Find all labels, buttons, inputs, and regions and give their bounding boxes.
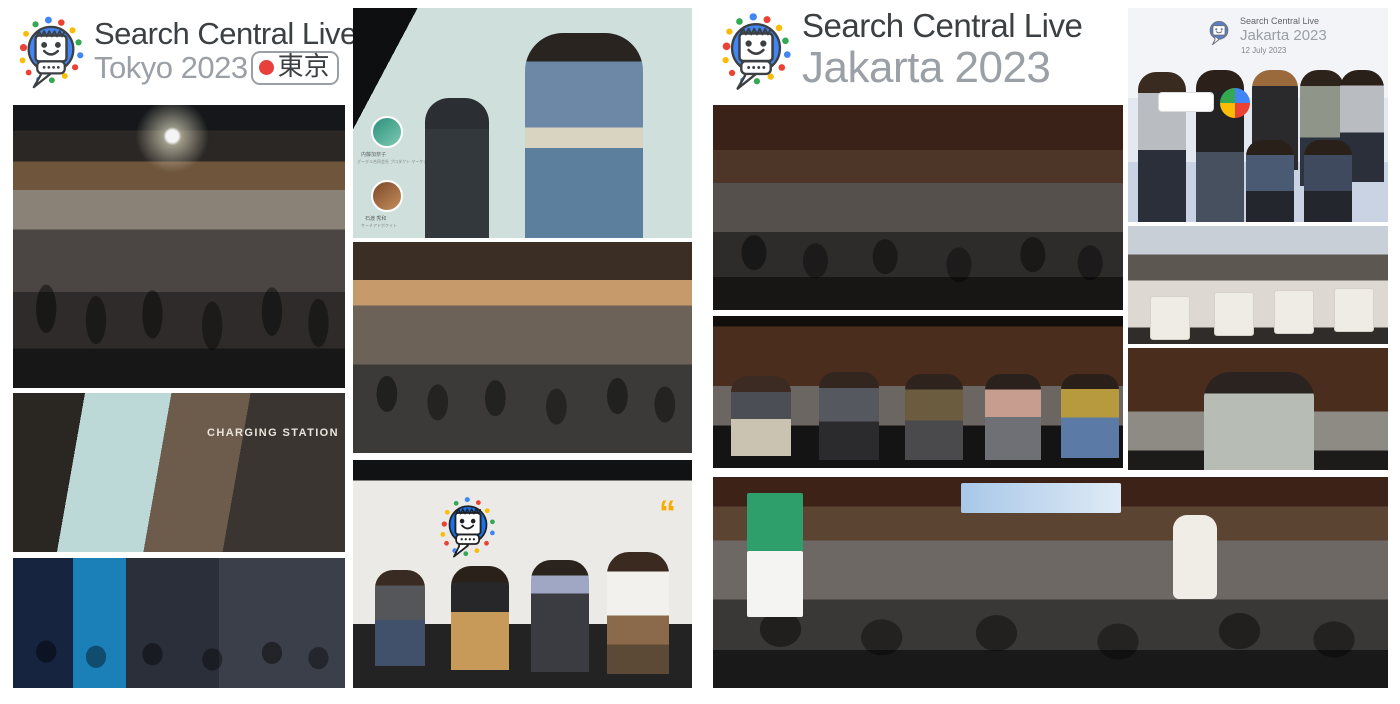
slide-speaker-name-2: 石渡 秀和 — [365, 215, 386, 222]
photo-tokyo-networking-drinks — [13, 558, 345, 688]
photo-people-overlay — [353, 242, 692, 453]
jakarta-title-line2: Jakarta 2023 — [802, 44, 1082, 92]
jkt-panelist-4 — [985, 374, 1041, 460]
collage-canvas: Search Central Live Tokyo 2023 東京 CHARGI… — [0, 0, 1400, 704]
photo-tokyo-stage-yukata-speaker: 内藤加奈子 グーグル合同会社 プロダクト マーケティング マネージャー 石渡 秀… — [353, 8, 692, 238]
photo-jakarta-tote-bags — [1128, 226, 1388, 344]
group-google-banner — [747, 493, 803, 551]
jakarta-title-block: Search Central Live Jakarta 2023 — [802, 8, 1082, 91]
jkt-panelist-3 — [905, 374, 963, 460]
booth-person-6 — [1246, 140, 1294, 222]
backdrop-title-line1: Search Central Live — [1240, 16, 1319, 26]
backdrop-title-line2: Jakarta 2023 — [1240, 27, 1327, 44]
slide-headshot-1 — [371, 116, 403, 148]
jkt-panelist-1 — [731, 376, 791, 456]
photo-tokyo-awards-charging-station: CHARGING STATION — [13, 393, 345, 552]
tote-bag-4 — [1334, 288, 1374, 332]
tokyo-kanji-badge: 東京 — [251, 51, 339, 85]
group-stage-screen — [961, 483, 1121, 513]
stage-quote-mark: “ — [659, 496, 676, 530]
booth-person-7 — [1304, 140, 1352, 222]
tokyo-kanji-label: 東京 — [278, 54, 330, 81]
panelist-1 — [375, 570, 425, 666]
mic-speaker-figure — [1204, 372, 1314, 470]
panelist-4 — [607, 552, 669, 674]
slide-headshot-2 — [371, 180, 403, 212]
group-mascot-cutout — [1173, 515, 1217, 599]
stage-person-left — [425, 98, 489, 238]
photo-fill — [13, 393, 345, 552]
photo-tokyo-panel-stage: “ — [353, 460, 692, 688]
photo-jakarta-photobooth: Search Central Live Jakarta 2023 12 July… — [1128, 8, 1388, 222]
tokyo-title-line1: Search Central Live — [94, 17, 357, 50]
jkt-panelist-2 — [819, 372, 879, 460]
panelist-3 — [531, 560, 589, 672]
charging-station-sign: CHARGING STATION — [207, 427, 339, 439]
photo-jakarta-audience-waving — [713, 105, 1123, 310]
photo-jakarta-panel-stage — [713, 316, 1123, 468]
tokyo-title-block: Search Central Live Tokyo 2023 東京 — [94, 17, 357, 85]
stage-person-center — [525, 33, 643, 238]
stage-screen-mascot-icon — [431, 488, 505, 566]
tokyo-title-line2: Tokyo 2023 — [94, 51, 248, 84]
tokyo-logo-lockup: Search Central Live Tokyo 2023 東京 — [8, 8, 357, 94]
jakarta-logo-lockup: Search Central Live Jakarta 2023 — [710, 4, 1082, 96]
tote-bag-1 — [1150, 296, 1190, 340]
photo-people-overlay — [13, 558, 345, 688]
backdrop-date: 12 July 2023 — [1241, 46, 1286, 55]
tote-bag-2 — [1214, 292, 1254, 336]
group-scl-banner — [747, 551, 803, 617]
photo-tokyo-audience-group — [13, 105, 345, 388]
search-central-mascot-icon — [710, 4, 802, 96]
prop-search-icon — [1220, 88, 1250, 118]
jkt-panelist-5 — [1061, 374, 1119, 458]
search-central-mascot-icon — [8, 8, 94, 94]
tote-bag-3 — [1274, 290, 1314, 334]
photo-people-overlay — [713, 105, 1123, 310]
backdrop-mascot-icon — [1202, 14, 1236, 48]
photo-jakarta-full-group — [713, 477, 1388, 688]
photo-jakarta-audience-question — [1128, 348, 1388, 470]
prop-google-sign — [1158, 92, 1214, 112]
panelist-2 — [451, 566, 509, 670]
slide-speaker-name-1: 内藤加奈子 — [361, 151, 386, 158]
slide-speaker-role-2: サーチアドボケイト — [361, 223, 397, 229]
photo-tokyo-heart-hands — [353, 242, 692, 453]
jakarta-title-line1: Search Central Live — [802, 8, 1082, 44]
photo-people-overlay — [13, 105, 345, 388]
japan-flag-dot-icon — [259, 60, 274, 75]
